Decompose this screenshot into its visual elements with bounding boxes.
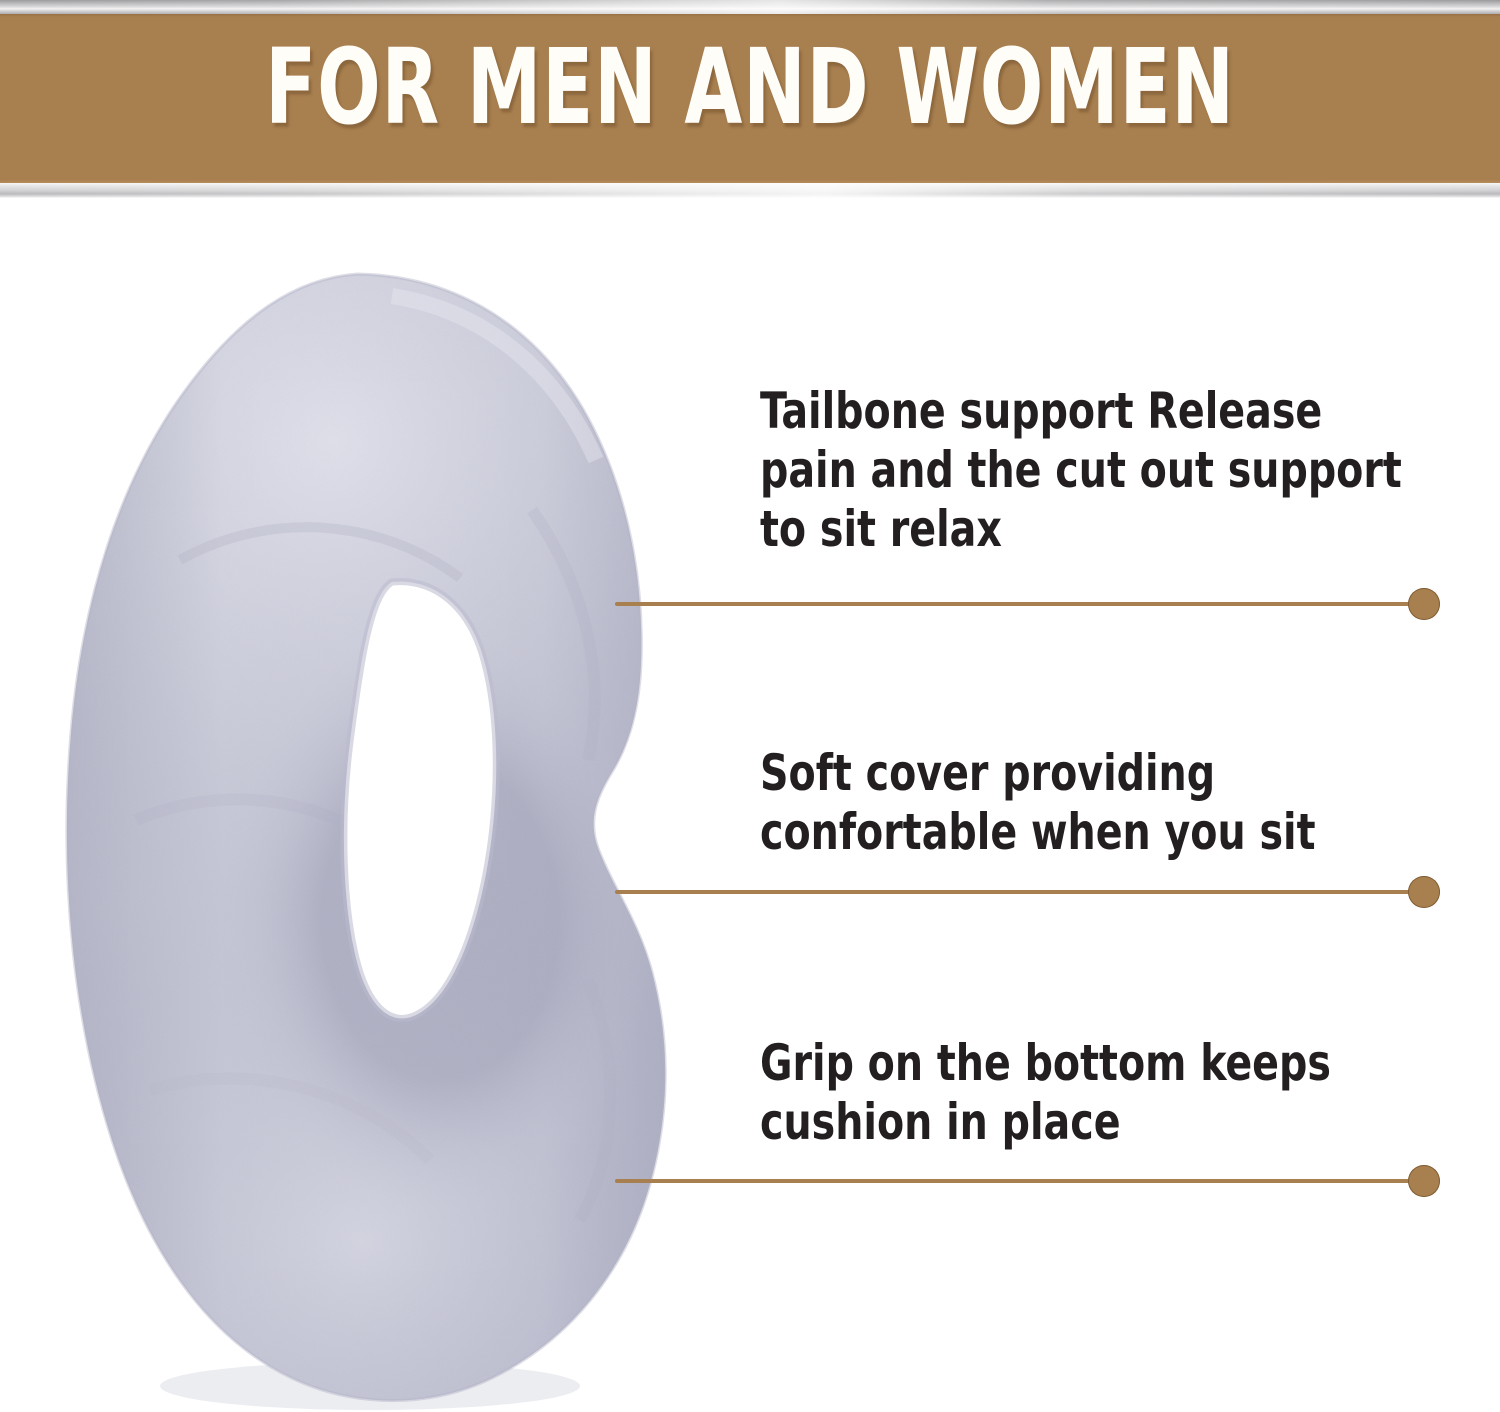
- donut-cushion-illustration: [40, 260, 740, 1410]
- leader-line-tailbone-support: [615, 602, 1423, 606]
- product-infographic: FOR MEN AND WOMEN: [0, 0, 1500, 1412]
- banner-title: FOR MEN AND WOMEN: [150, 32, 1350, 142]
- callout-text-bottom-grip: Grip on the bottom keeps cushion in plac…: [760, 1034, 1429, 1152]
- leader-line-bottom-grip: [615, 1179, 1423, 1183]
- leader-dot-bottom-grip: [1408, 1165, 1440, 1197]
- leader-dot-tailbone-support: [1408, 588, 1440, 620]
- leader-line-soft-cover: [615, 890, 1423, 894]
- silver-strip-top: [0, 0, 1500, 15]
- silver-strip-bottom: [0, 183, 1500, 198]
- product-image: [40, 260, 740, 1410]
- leader-dot-soft-cover: [1408, 876, 1440, 908]
- callout-text-soft-cover: Soft cover providing confortable when yo…: [760, 744, 1429, 862]
- header-banner: FOR MEN AND WOMEN: [0, 0, 1500, 198]
- callout-text-tailbone-support: Tailbone support Release pain and the cu…: [760, 382, 1429, 559]
